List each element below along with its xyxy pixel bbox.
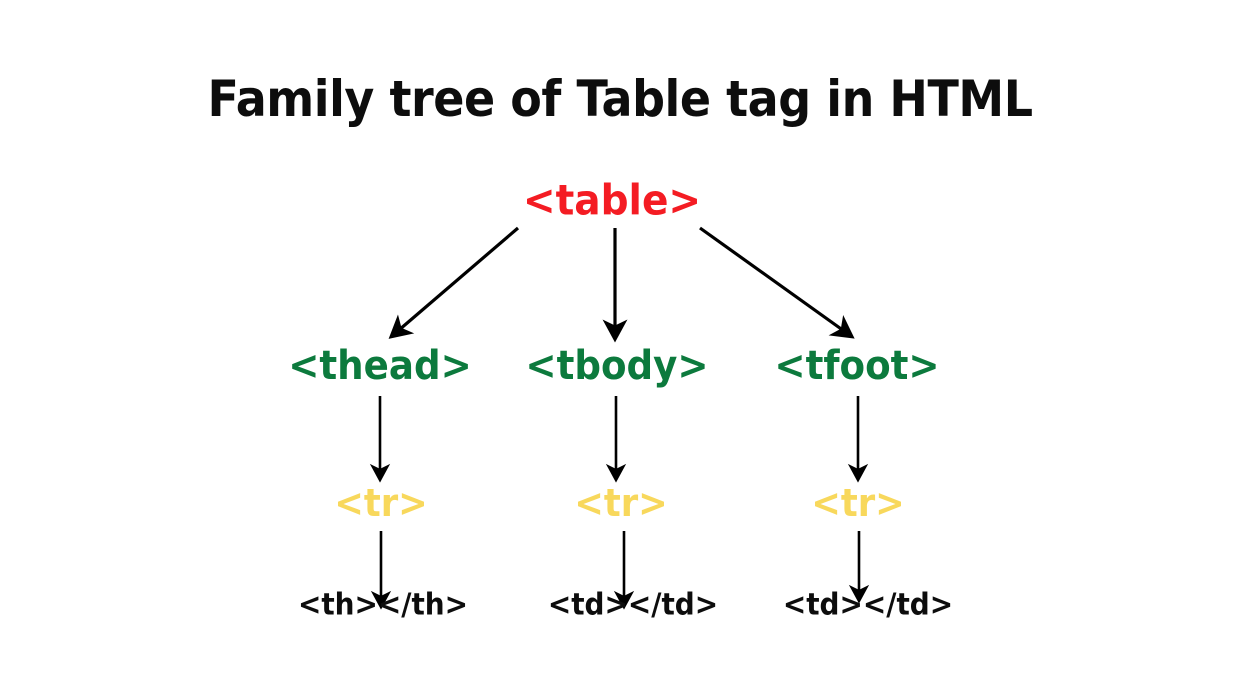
- node-tr-tfoot[interactable]: <tr>: [811, 481, 905, 525]
- node-tr-thead[interactable]: <tr>: [334, 481, 428, 525]
- edge-table-tfoot: [700, 228, 851, 336]
- diagram-canvas: Family tree of Table tag in HTML <table>…: [0, 0, 1240, 700]
- node-thead[interactable]: <thead>: [288, 343, 472, 389]
- node-table[interactable]: <table>: [523, 176, 701, 225]
- node-td-tfoot[interactable]: <td></td>: [783, 588, 953, 623]
- node-th[interactable]: <th></th>: [298, 588, 468, 623]
- edge-table-thead: [392, 228, 518, 336]
- node-td-tbody[interactable]: <td></td>: [548, 588, 718, 623]
- node-tbody[interactable]: <tbody>: [525, 343, 708, 389]
- node-tfoot[interactable]: <tfoot>: [774, 343, 939, 389]
- node-tr-tbody[interactable]: <tr>: [574, 481, 668, 525]
